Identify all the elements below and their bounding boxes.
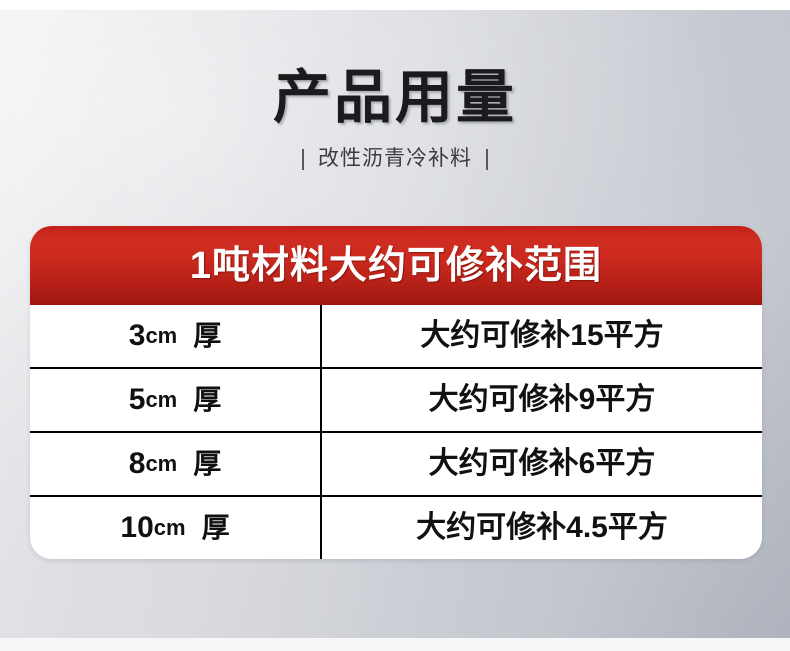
table-row: 3 cm 厚 大约可修补15平方 — [30, 305, 762, 369]
table-cell-area: 大约可修补4.5平方 — [322, 497, 762, 559]
top-white-strip — [0, 0, 790, 10]
thickness-word: 厚 — [202, 511, 230, 545]
table-cell-area: 大约可修补9平方 — [322, 369, 762, 431]
subtitle-left-bar-icon — [302, 149, 304, 170]
table-cell-thickness: 3 cm 厚 — [30, 305, 322, 367]
thickness-word: 厚 — [193, 447, 221, 481]
usage-table-card: 1吨材料大约可修补范围 3 cm 厚 大约可修补15平方 5 cm 厚 — [30, 226, 762, 559]
table-row: 8 cm 厚 大约可修补6平方 — [30, 433, 762, 497]
thickness-value: 3 — [129, 319, 146, 353]
table-row: 10 cm 厚 大约可修补4.5平方 — [30, 497, 762, 559]
usage-table-banner-label: 1吨材料大约可修补范围 — [30, 244, 762, 288]
table-cell-thickness: 5 cm 厚 — [30, 369, 322, 431]
thickness-value: 10 — [120, 511, 153, 545]
thickness-word: 厚 — [193, 319, 221, 353]
area-text: 大约可修补4.5平方 — [416, 510, 668, 546]
page-title: 产品用量 — [0, 66, 790, 130]
thickness-unit: cm — [154, 511, 186, 545]
table-cell-area: 大约可修补6平方 — [322, 433, 762, 495]
thickness-unit: cm — [145, 447, 177, 481]
area-text: 大约可修补9平方 — [429, 382, 656, 418]
table-row: 5 cm 厚 大约可修补9平方 — [30, 369, 762, 433]
thickness-value: 8 — [129, 447, 146, 481]
table-cell-thickness: 10 cm 厚 — [30, 497, 322, 559]
thickness-unit: cm — [145, 319, 177, 353]
thickness-value: 5 — [129, 383, 146, 417]
table-cell-area: 大约可修补15平方 — [322, 305, 762, 367]
usage-table-body: 3 cm 厚 大约可修补15平方 5 cm 厚 大约可修补9平方 — [30, 305, 762, 559]
subtitle-right-bar-icon — [486, 149, 488, 170]
thickness-unit: cm — [145, 383, 177, 417]
usage-table-banner: 1吨材料大约可修补范围 — [30, 226, 762, 305]
product-usage-page: 产品用量 改性沥青冷补料 1吨材料大约可修补范围 3 cm 厚 大约可修补15平… — [0, 0, 790, 651]
table-cell-thickness: 8 cm 厚 — [30, 433, 322, 495]
area-text: 大约可修补6平方 — [429, 446, 656, 482]
thickness-word: 厚 — [193, 383, 221, 417]
bottom-white-strip — [0, 638, 790, 651]
subtitle-row: 改性沥青冷补料 — [0, 146, 790, 172]
area-text: 大约可修补15平方 — [420, 318, 663, 354]
page-subtitle: 改性沥青冷补料 — [318, 146, 472, 172]
